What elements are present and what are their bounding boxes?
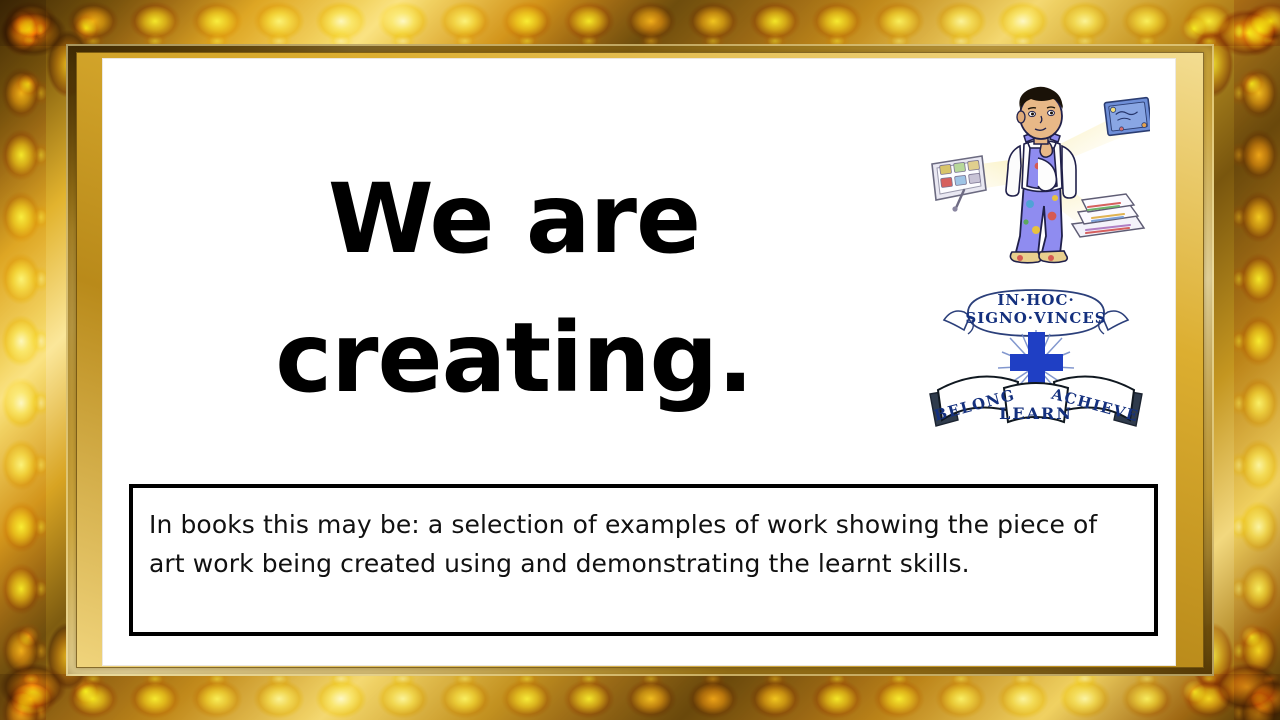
crest-motto-learn: LEARN [999, 404, 1073, 423]
guidance-text-box: In books this may be: a selection of exa… [129, 484, 1158, 636]
page-title: We are creating. [174, 150, 854, 428]
crest-top-scroll: IN·HOC· SIGNO·VINCES [944, 290, 1128, 336]
frame-corner-top-left [0, 0, 110, 110]
frame-ornament-bottom [0, 674, 1280, 720]
crest-motto-top-line2: SIGNO·VINCES [965, 309, 1106, 327]
slide-root: We are creating. [0, 0, 1280, 720]
clipart-child-creating [920, 86, 1150, 274]
school-crest-logo: IN·HOC· SIGNO·VINCES [922, 276, 1150, 438]
frame-corner-bottom-left [0, 610, 110, 720]
crest-bottom-banner: BELONG LEARN ACHIEVE [930, 377, 1142, 426]
crest-motto-top-line1: IN·HOC· [997, 291, 1074, 309]
frame-corner-bottom-right [1170, 610, 1280, 720]
sketch-book-icon [1104, 97, 1150, 135]
slide-canvas: We are creating. [102, 58, 1176, 666]
art-supply-box-icon [1072, 194, 1144, 237]
frame-ornament-top [0, 0, 1280, 46]
child-figure [1006, 87, 1076, 263]
guidance-text: In books this may be: a selection of exa… [149, 506, 1132, 584]
frame-ornament-left [0, 0, 46, 720]
paint-palette-icon [932, 156, 986, 212]
frame-ornament-right [1234, 0, 1280, 720]
frame-corner-top-right [1170, 0, 1280, 110]
